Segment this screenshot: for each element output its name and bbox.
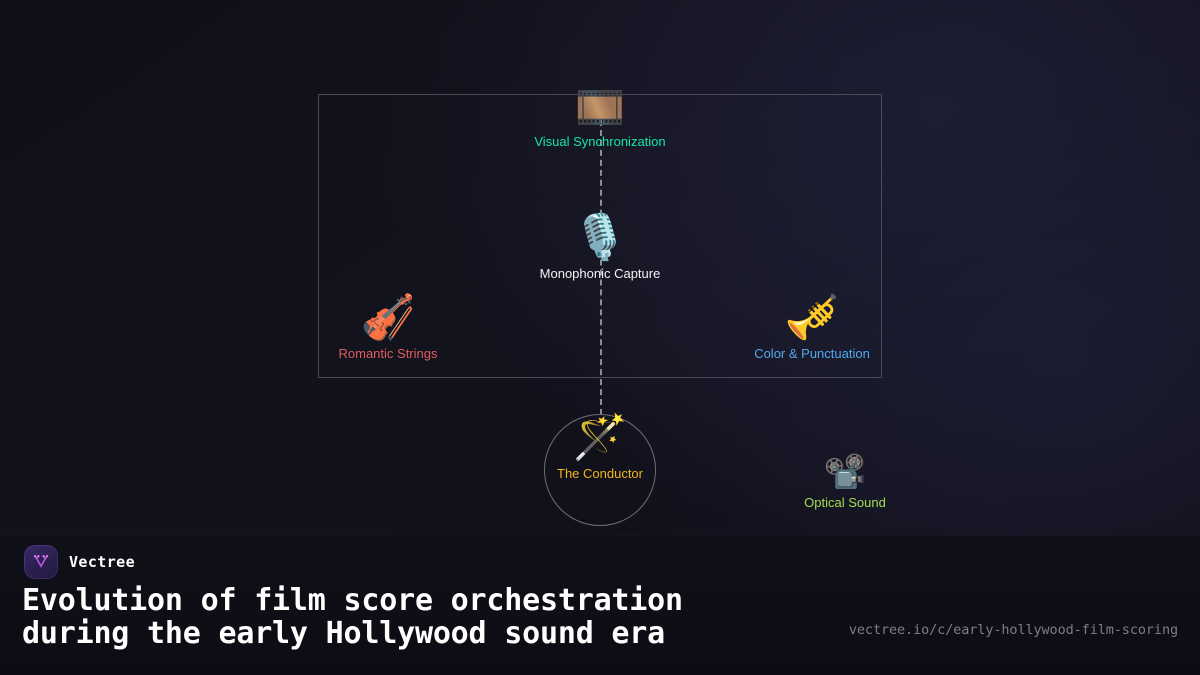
node-visual-synchronization[interactable]: 🎞️Visual Synchronization bbox=[534, 88, 665, 148]
footer-bar: Vectree Evolution of film score orchestr… bbox=[0, 535, 1200, 675]
node-label-monophonic-capture: Monophonic Capture bbox=[540, 267, 661, 280]
violin-icon: 🎻 bbox=[361, 296, 416, 340]
brand-name: Vectree bbox=[69, 553, 135, 571]
node-label-romantic-strings: Romantic Strings bbox=[339, 347, 438, 360]
screenshot-root: 🎞️Visual Synchronization🎙️Monophonic Cap… bbox=[0, 0, 1200, 675]
page-title: Evolution of film score orchestration du… bbox=[22, 584, 1182, 650]
node-color-punctuation[interactable]: 🎺Color & Punctuation bbox=[754, 296, 870, 360]
graph-canvas[interactable]: 🎞️Visual Synchronization🎙️Monophonic Cap… bbox=[0, 0, 1200, 535]
node-label-the-conductor: The Conductor bbox=[557, 467, 643, 480]
node-monophonic-capture[interactable]: 🎙️Monophonic Capture bbox=[540, 216, 661, 280]
film-projector-icon: 📽️ bbox=[824, 455, 866, 489]
brand-block: Vectree bbox=[24, 545, 135, 579]
node-optical-sound[interactable]: 📽️Optical Sound bbox=[804, 455, 886, 509]
vectree-logo-icon bbox=[24, 545, 58, 579]
trumpet-icon: 🎺 bbox=[785, 296, 840, 340]
film-frames-icon: 🎞️ bbox=[575, 88, 625, 128]
node-label-color-punctuation: Color & Punctuation bbox=[754, 347, 870, 360]
node-label-optical-sound: Optical Sound bbox=[804, 496, 886, 509]
node-romantic-strings[interactable]: 🎻Romantic Strings bbox=[339, 296, 438, 360]
page-title-line-1: Evolution of film score orchestration bbox=[22, 584, 1182, 617]
node-label-visual-synchronization: Visual Synchronization bbox=[534, 135, 665, 148]
source-url: vectree.io/c/early-hollywood-film-scorin… bbox=[849, 622, 1178, 638]
studio-microphone-icon: 🎙️ bbox=[573, 216, 628, 260]
node-the-conductor[interactable]: 🪄The Conductor bbox=[557, 416, 643, 480]
magic-wand-icon: 🪄 bbox=[573, 416, 628, 460]
